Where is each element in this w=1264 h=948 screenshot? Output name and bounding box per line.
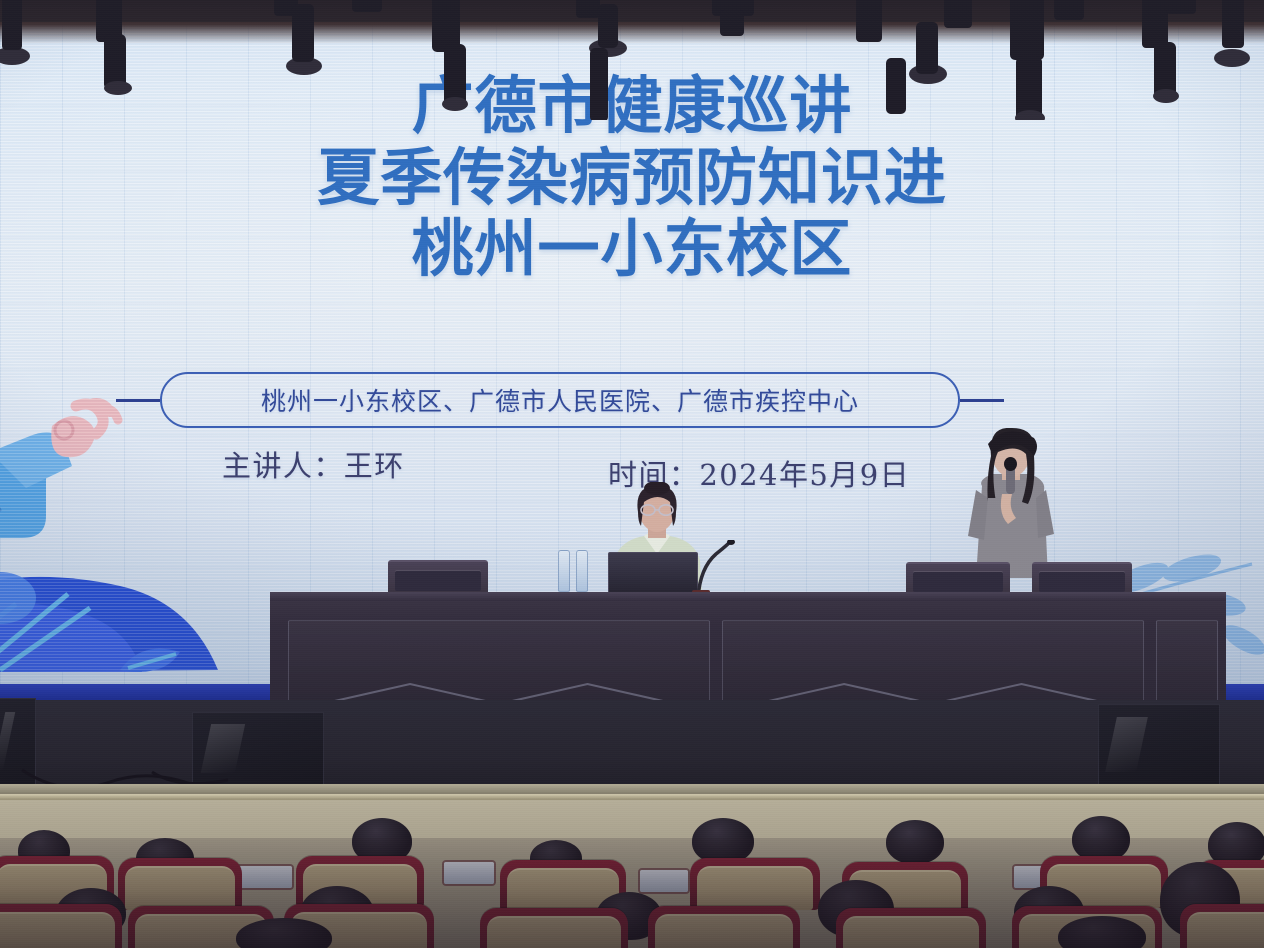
slide-speaker-line: 主讲人：王环 [222, 443, 405, 485]
chair-right-a [906, 562, 1010, 596]
organizer-tick-right [960, 399, 1004, 402]
laptop [608, 552, 698, 596]
chair-right-b-panel [1039, 572, 1125, 591]
stage-lighting-rig [0, 0, 1264, 120]
table-top-edge [270, 592, 1226, 601]
gooseneck-microphone [690, 540, 736, 598]
slide-title-line-2: 夏季传染病预防知识进 [0, 140, 1264, 216]
chair-right-b [1032, 562, 1132, 596]
photo-canvas: 广德市健康巡讲 夏季传染病预防知识进 桃州一小东校区 桃州一小东校区、广德市人民… [0, 0, 1264, 948]
stage-monitor-right [1098, 704, 1220, 792]
organizer-tick-left [116, 399, 160, 402]
slide-title-line-3: 桃州一小东校区 [0, 211, 1264, 287]
organizer-box: 桃州一小东校区、广德市人民医院、广德市疾控中心 [160, 372, 960, 428]
chair-left [388, 560, 488, 596]
chair-left-panel [395, 571, 481, 591]
water-bottle-2 [576, 550, 588, 592]
auditorium-rail [0, 794, 1264, 800]
organizer-text: 桃州一小东校区、广德市人民医院、广德市疾控中心 [261, 382, 859, 418]
stage-front-edge [0, 784, 1264, 794]
monitor-slot-3 [1105, 717, 1148, 772]
water-bottle-1 [558, 550, 570, 592]
monitor-slot-1 [0, 712, 16, 771]
organizer-banner: 桃州一小东校区、广德市人民医院、广德市疾控中心 [140, 372, 980, 430]
auditorium-shadow [0, 838, 1264, 948]
chair-right-a-panel [913, 572, 1002, 591]
